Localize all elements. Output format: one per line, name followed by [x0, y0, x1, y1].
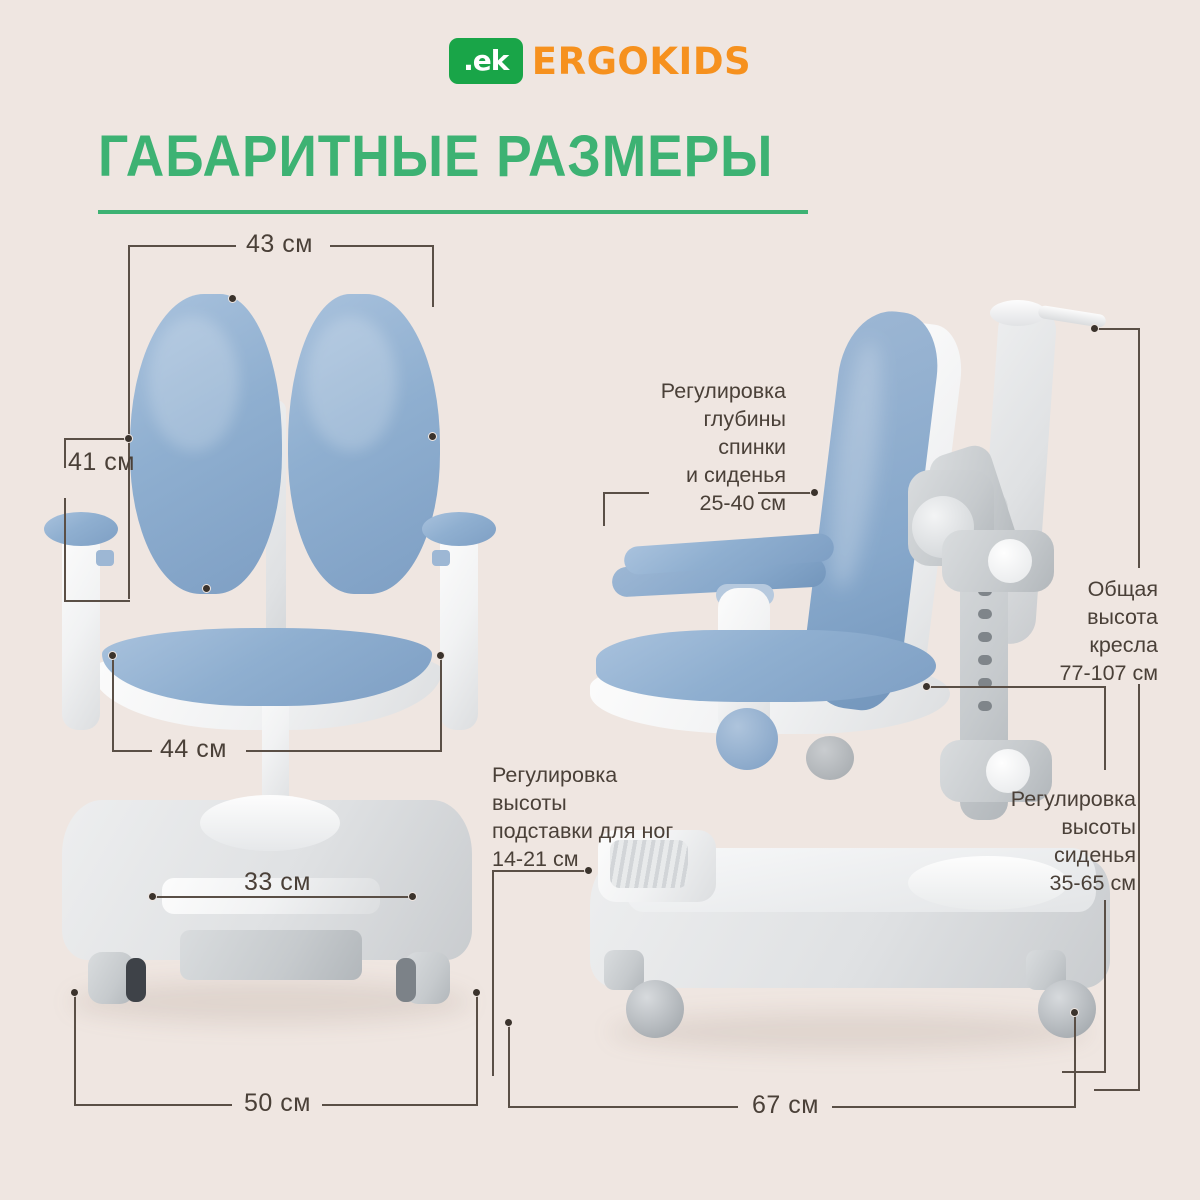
dim-50-line-right — [322, 1104, 478, 1106]
brand-wordmark: ERGOKIDS — [532, 43, 751, 80]
caster-side-right — [1038, 980, 1096, 1038]
dim-41-line-upper — [64, 438, 66, 468]
armrest-pad-left — [44, 512, 118, 546]
dim-dot-footrest-right — [408, 892, 417, 901]
dim-label-base-depth: 67 см — [752, 1091, 819, 1120]
seat-cushion — [102, 628, 432, 706]
page-title: ГАБАРИТНЫЕ РАЗМЕРЫ — [98, 127, 797, 188]
dim-41-line-lower — [64, 498, 66, 602]
note-total-tick-top — [1094, 328, 1140, 330]
annotation-seat-height: Регулировка высоты сиденья 35-65 см — [1002, 786, 1136, 898]
dim-44-tick-right — [440, 655, 442, 751]
base-hub — [200, 795, 340, 851]
dim-43-line-left — [128, 245, 236, 247]
lobe-sheen — [306, 316, 397, 451]
caster-side-left — [626, 980, 684, 1038]
dim-44-tick-left — [112, 655, 114, 751]
depth-adjust-knob — [716, 708, 778, 770]
note-depth-line-right — [758, 492, 814, 494]
dim-label-footrest-width: 33 см — [244, 868, 311, 897]
caster-wheel-left — [126, 958, 146, 1002]
title-underline — [98, 210, 808, 214]
tilt-lever-knob — [806, 736, 854, 780]
dim-dot-seat-right — [436, 651, 445, 660]
annotation-footrest-height: Регулировка высоты подставки для ног 14-… — [492, 762, 702, 874]
note-depth-dot — [810, 488, 819, 497]
armrest-knob-right — [432, 550, 450, 566]
infographic-canvas: .ek ERGOKIDS ГАБАРИТНЫЕ РАЗМЕРЫ — [0, 0, 1200, 1200]
dim-dot-footrest-left — [148, 892, 157, 901]
badge-text: .ek — [463, 47, 508, 75]
dim-dot-backrest-right — [428, 432, 437, 441]
lobe-sheen — [148, 316, 239, 451]
dim-67-line-left — [508, 1106, 738, 1108]
dim-50-tick-left — [74, 992, 76, 1104]
armrest-pad-right — [422, 512, 496, 546]
dim-67-tick-right — [1074, 1012, 1076, 1106]
dim-50-line-left — [74, 1104, 232, 1106]
note-footrest-tick — [492, 870, 494, 1076]
note-seat-line-bottom — [1062, 1071, 1106, 1073]
dim-dot-base-depth-left — [504, 1018, 513, 1027]
dim-41-tick-top — [64, 438, 130, 440]
note-total-line-upper — [1138, 330, 1140, 568]
dim-label-backrest-height: 41 см — [68, 448, 135, 477]
backrest-left-lobe — [130, 294, 282, 594]
annotation-total-height: Общая высота кресла 77-107 см — [1012, 576, 1158, 688]
dim-dot-base-depth-right — [1070, 1008, 1079, 1017]
dim-44-line-left — [112, 750, 152, 752]
dim-43-tick-right — [432, 245, 434, 307]
dim-dot-backrest-top — [228, 294, 237, 303]
dim-dot-base-left — [70, 988, 79, 997]
note-total-line-lower — [1138, 684, 1140, 1090]
note-seat-line-top — [926, 686, 1106, 688]
dim-dot-base-right — [472, 988, 481, 997]
brand-logo: .ek ERGOKIDS — [0, 38, 1200, 84]
armrest-knob-left — [96, 550, 114, 566]
note-seat-tick-lower — [1104, 900, 1106, 1072]
note-footrest-dot — [584, 866, 593, 875]
dim-label-base-width: 50 см — [244, 1089, 311, 1118]
dim-43-tick-left — [128, 245, 130, 305]
dim-label-backrest-width: 43 см — [246, 230, 313, 259]
annotation-depth-adjust: Регулировка глубины спинки и сиденья 25-… — [600, 378, 786, 518]
ergokids-badge-icon: .ek — [449, 38, 523, 84]
dim-dot-seat-left — [108, 651, 117, 660]
dim-50-tick-right — [476, 992, 478, 1104]
note-depth-line-left — [603, 492, 649, 494]
dim-43-line-right — [330, 245, 434, 247]
note-depth-tick — [603, 492, 605, 526]
note-footrest-line — [492, 870, 588, 872]
dim-44-line-right — [246, 750, 442, 752]
note-total-tick-bottom — [1094, 1089, 1140, 1091]
dim-label-seat-width: 44 см — [160, 735, 227, 764]
dim-dot-backrest-lower — [202, 584, 211, 593]
dim-67-line-right — [832, 1106, 1076, 1108]
dim-dot-backrest-upper-left — [124, 434, 133, 443]
armrest-post-left — [62, 530, 100, 730]
chair-front-view — [40, 280, 500, 1040]
note-seat-tick-upper — [1104, 686, 1106, 770]
dim-67-tick-left — [508, 1022, 510, 1106]
backrest-right-lobe — [288, 294, 440, 594]
caster-wheel-right — [396, 958, 416, 1002]
seat-cushion-side — [596, 630, 936, 702]
note-total-dot-top — [1090, 324, 1099, 333]
dim-41-tick-bottom — [64, 600, 130, 602]
note-seat-dot — [922, 682, 931, 691]
footrest-lower — [180, 930, 362, 980]
